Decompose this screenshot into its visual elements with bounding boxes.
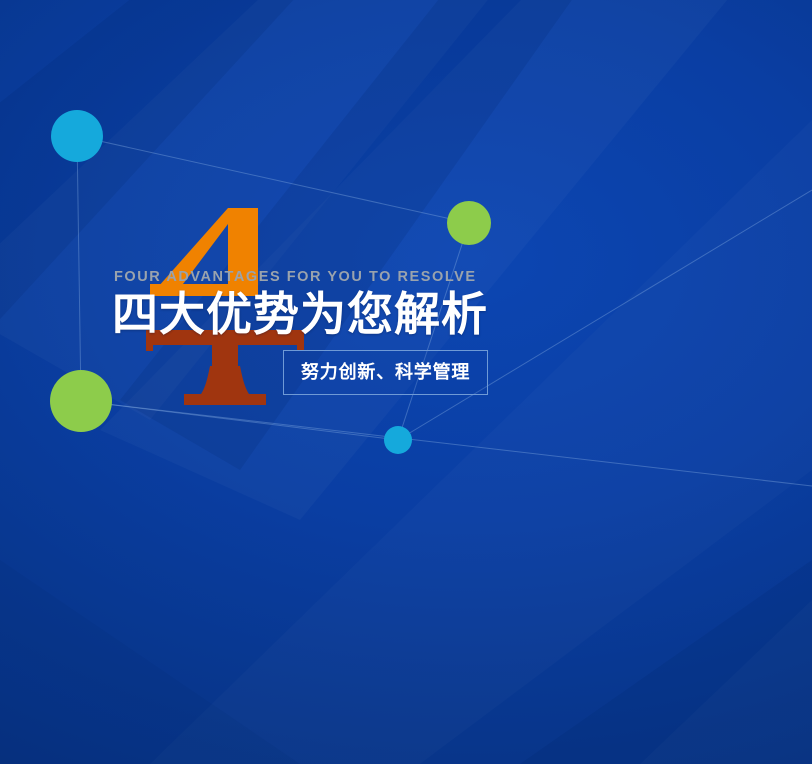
- node-cyan-top-left: [51, 110, 103, 162]
- emblem-pedestal: [146, 330, 304, 405]
- edge-green-bottom-tail: [81, 401, 812, 486]
- node-cyan-bottom: [384, 426, 412, 454]
- banner-canvas: FOUR ADVANTAGES FOR YOU TO RESOLVE 四大优势为…: [0, 0, 812, 764]
- headline-block: FOUR ADVANTAGES FOR YOU TO RESOLVE 四大优势为…: [112, 270, 752, 338]
- node-green-bottom-left: [50, 370, 112, 432]
- tagline-container: 努力创新、科学管理: [283, 350, 488, 395]
- node-green-right: [447, 201, 491, 245]
- page-title: 四大优势为您解析: [112, 291, 752, 339]
- eyebrow-text: FOUR ADVANTAGES FOR YOU TO RESOLVE: [114, 270, 752, 285]
- edge-cyan-to-green-bottom: [77, 136, 81, 401]
- tagline-badge: 努力创新、科学管理: [283, 350, 488, 395]
